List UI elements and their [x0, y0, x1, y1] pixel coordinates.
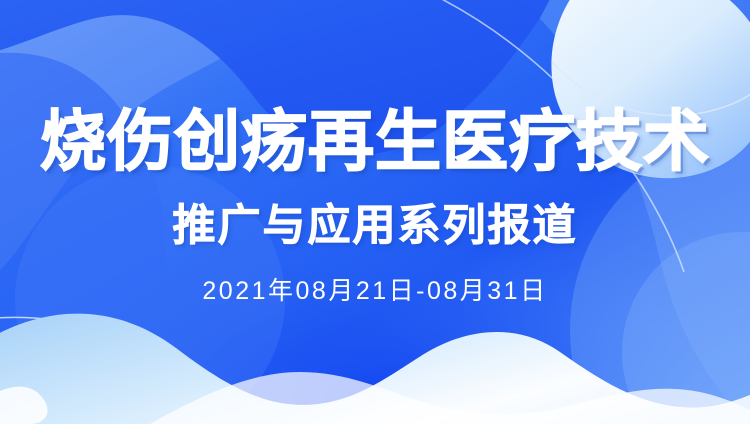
banner-subtitle: 推广与应用系列报道	[0, 199, 750, 253]
promo-banner: 烧伤创疡再生医疗技术 推广与应用系列报道 2021年08月21日-08月31日	[0, 0, 750, 424]
banner-main-title: 烧伤创疡再生医疗技术	[0, 102, 750, 180]
banner-content: 烧伤创疡再生医疗技术 推广与应用系列报道 2021年08月21日-08月31日	[0, 0, 750, 424]
banner-date-range: 2021年08月21日-08月31日	[0, 275, 750, 307]
